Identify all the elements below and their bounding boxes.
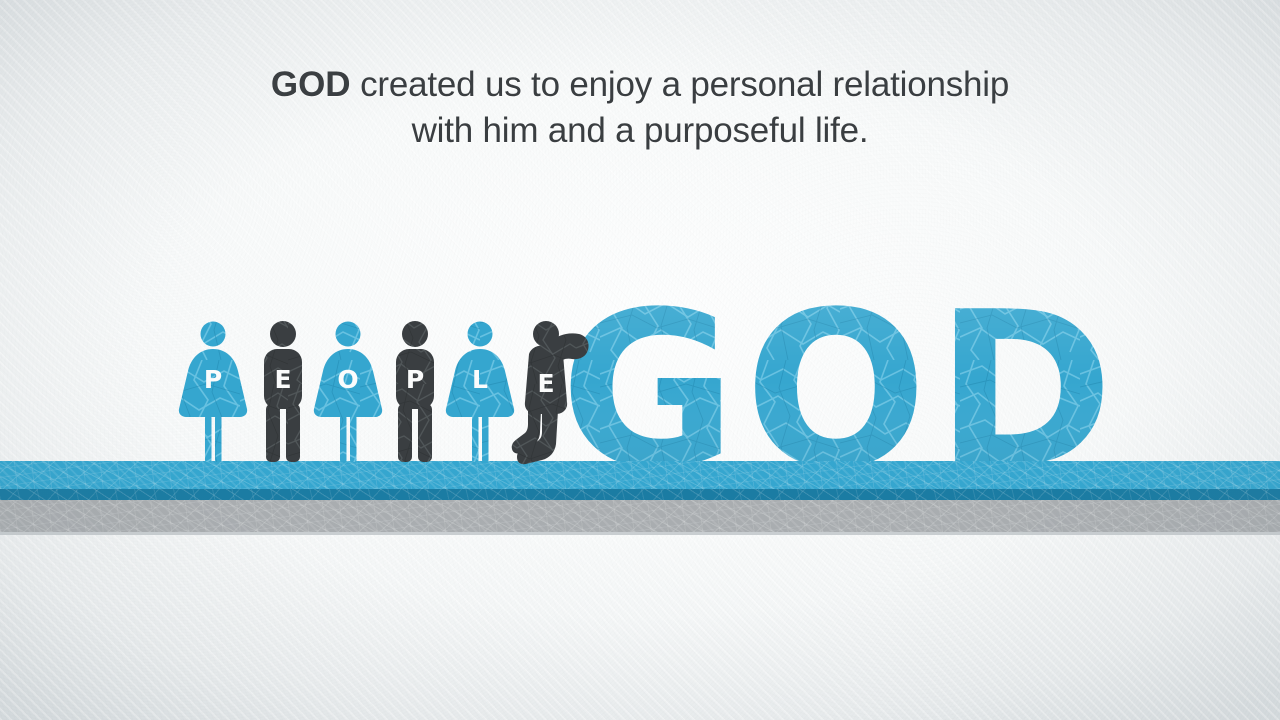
- vignette-overlay: [0, 0, 1280, 720]
- slide-canvas: GOD created us to enjoy a personal relat…: [0, 0, 1280, 720]
